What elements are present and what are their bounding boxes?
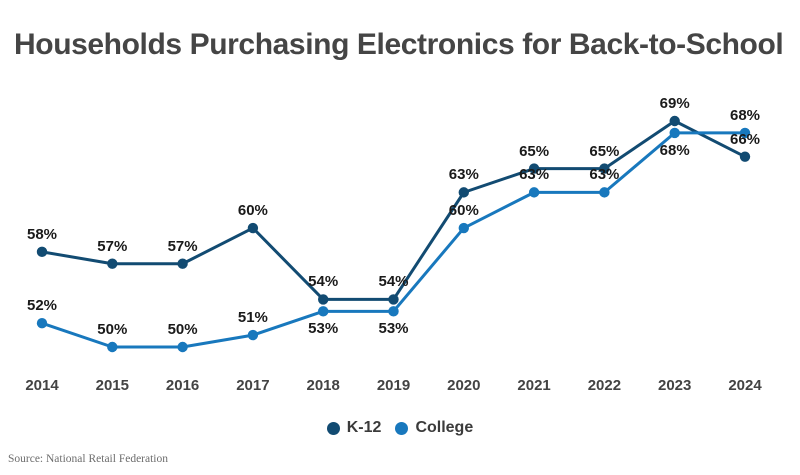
value-label: 54% <box>293 273 353 290</box>
value-label: 50% <box>82 321 142 338</box>
value-label: 65% <box>504 143 564 160</box>
x-axis-tick-2019: 2019 <box>364 377 424 394</box>
data-point-marker[interactable] <box>107 259 117 269</box>
value-label: 63% <box>574 166 634 183</box>
data-point-marker[interactable] <box>177 342 187 352</box>
value-label: 57% <box>153 238 213 255</box>
value-label: 57% <box>82 238 142 255</box>
x-axis-tick-2018: 2018 <box>293 377 353 394</box>
value-label: 53% <box>364 320 424 337</box>
value-label: 63% <box>504 166 564 183</box>
data-point-marker[interactable] <box>318 294 328 304</box>
chart-container: Households Purchasing Electronics for Ba… <box>0 0 800 475</box>
legend-label: College <box>415 419 473 437</box>
legend-label: K-12 <box>347 419 382 437</box>
data-point-marker[interactable] <box>459 187 469 197</box>
x-axis-tick-2022: 2022 <box>574 377 634 394</box>
data-point-marker[interactable] <box>459 223 469 233</box>
data-point-marker[interactable] <box>37 247 47 257</box>
value-label: 53% <box>293 320 353 337</box>
x-axis-tick-2017: 2017 <box>223 377 283 394</box>
value-label: 58% <box>12 226 72 243</box>
legend-swatch-icon <box>395 422 408 435</box>
data-point-marker[interactable] <box>599 187 609 197</box>
value-label: 63% <box>434 166 494 183</box>
x-axis-tick-2014: 2014 <box>12 377 72 394</box>
source-note: Source: National Retail Federation <box>8 453 168 465</box>
data-point-marker[interactable] <box>388 294 398 304</box>
value-label: 66% <box>715 131 775 148</box>
data-point-marker[interactable] <box>248 330 258 340</box>
x-axis-tick-2016: 2016 <box>153 377 213 394</box>
value-label: 50% <box>153 321 213 338</box>
data-point-marker[interactable] <box>107 342 117 352</box>
value-label: 69% <box>645 95 705 112</box>
data-point-marker[interactable] <box>740 151 750 161</box>
value-label: 60% <box>223 202 283 219</box>
value-label: 51% <box>223 309 283 326</box>
x-axis-tick-2021: 2021 <box>504 377 564 394</box>
legend-swatch-icon <box>327 422 340 435</box>
legend-item-k-12[interactable]: K-12 <box>327 419 382 437</box>
x-axis-tick-2023: 2023 <box>645 377 705 394</box>
x-axis-tick-2024: 2024 <box>715 377 775 394</box>
legend-item-college[interactable]: College <box>395 419 473 437</box>
value-label: 60% <box>434 202 494 219</box>
data-point-marker[interactable] <box>670 116 680 126</box>
data-point-marker[interactable] <box>670 128 680 138</box>
value-label: 68% <box>645 142 705 159</box>
value-label: 52% <box>12 297 72 314</box>
data-point-marker[interactable] <box>529 187 539 197</box>
data-point-marker[interactable] <box>318 306 328 316</box>
data-point-marker[interactable] <box>248 223 258 233</box>
value-label: 65% <box>574 143 634 160</box>
value-label: 68% <box>715 107 775 124</box>
data-point-marker[interactable] <box>37 318 47 328</box>
value-label: 54% <box>364 273 424 290</box>
data-point-marker[interactable] <box>177 259 187 269</box>
data-point-marker[interactable] <box>388 306 398 316</box>
x-axis-tick-2020: 2020 <box>434 377 494 394</box>
chart-legend: K-12College <box>0 419 800 437</box>
x-axis-tick-2015: 2015 <box>82 377 142 394</box>
